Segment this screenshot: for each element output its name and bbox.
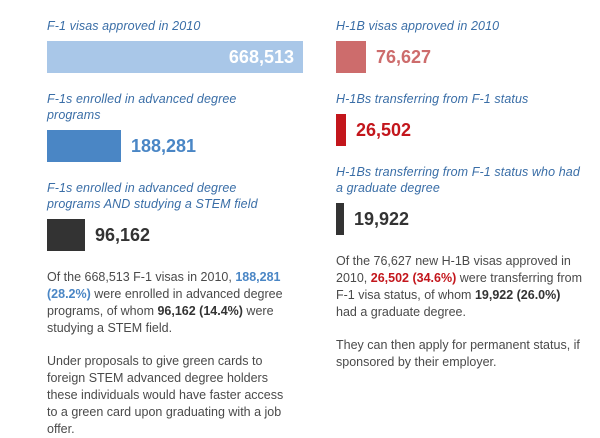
h1b-permanent-status-paragraph: They can then apply for permanent status… [336, 337, 582, 371]
metric-value: 668,513 [229, 41, 303, 73]
metric-h1b-transferring: H-1Bs transferring from F-1 status 26,50… [336, 91, 582, 146]
metric-value: 76,627 [366, 41, 431, 73]
metric-heading: H-1Bs transferring from F-1 status who h… [336, 164, 582, 196]
h1b-summary-paragraph: Of the 76,627 new H-1B visas approved in… [336, 253, 582, 321]
f1-visa-column: F-1 visas approved in 2010 668,513 F-1s … [0, 18, 300, 438]
metric-bar-row: 19,922 [336, 203, 582, 235]
f1-summary-paragraph: Of the 668,513 F-1 visas in 2010, 188,28… [47, 269, 292, 337]
metric-bar-row: 668,513 [47, 41, 292, 73]
bar-h1b-graduate-degree [336, 203, 344, 235]
metric-f1-visas-approved: F-1 visas approved in 2010 668,513 [47, 18, 292, 73]
metric-value: 96,162 [85, 219, 150, 251]
bar-f1-stem [47, 219, 85, 251]
infographic-page: F-1 visas approved in 2010 668,513 F-1s … [0, 0, 600, 400]
bar-h1b-transferring [336, 114, 346, 146]
paragraph-text: Of the 668,513 F-1 visas in 2010, [47, 270, 235, 284]
metric-h1b-graduate-degree: H-1Bs transferring from F-1 status who h… [336, 164, 582, 235]
metric-heading: F-1 visas approved in 2010 [47, 18, 292, 34]
metric-heading: H-1B visas approved in 2010 [336, 18, 582, 34]
metric-bar-row: 96,162 [47, 219, 292, 251]
f1-proposal-paragraph: Under proposals to give green cards to f… [47, 353, 292, 438]
bar-f1-advanced-degree [47, 130, 121, 162]
metric-bar-row: 188,281 [47, 130, 292, 162]
two-column-layout: F-1 visas approved in 2010 668,513 F-1s … [0, 0, 600, 438]
h1b-visa-column: H-1B visas approved in 2010 76,627 H-1Bs… [300, 18, 600, 438]
metric-value: 19,922 [344, 203, 409, 235]
bar-f1-visas-approved: 668,513 [47, 41, 303, 73]
metric-f1-advanced-degree: F-1s enrolled in advanced degree program… [47, 91, 292, 162]
paragraph-text: had a graduate degree. [336, 305, 466, 319]
paragraph-highlight-stem: 96,162 (14.4%) [157, 304, 242, 318]
paragraph-highlight-graduate-degree: 19,922 (26.0%) [475, 288, 560, 302]
metric-heading: F-1s enrolled in advanced degree program… [47, 91, 292, 123]
paragraph-highlight-transferring: 26,502 (34.6%) [371, 271, 456, 285]
metric-bar-row: 26,502 [336, 114, 582, 146]
metric-value: 188,281 [121, 130, 196, 162]
metric-heading: H-1Bs transferring from F-1 status [336, 91, 582, 107]
metric-value: 26,502 [346, 114, 411, 146]
metric-f1-stem: F-1s enrolled in advanced degree program… [47, 180, 292, 251]
metric-h1b-visas-approved: H-1B visas approved in 2010 76,627 [336, 18, 582, 73]
metric-heading: F-1s enrolled in advanced degree program… [47, 180, 292, 212]
metric-bar-row: 76,627 [336, 41, 582, 73]
bar-h1b-visas-approved [336, 41, 366, 73]
